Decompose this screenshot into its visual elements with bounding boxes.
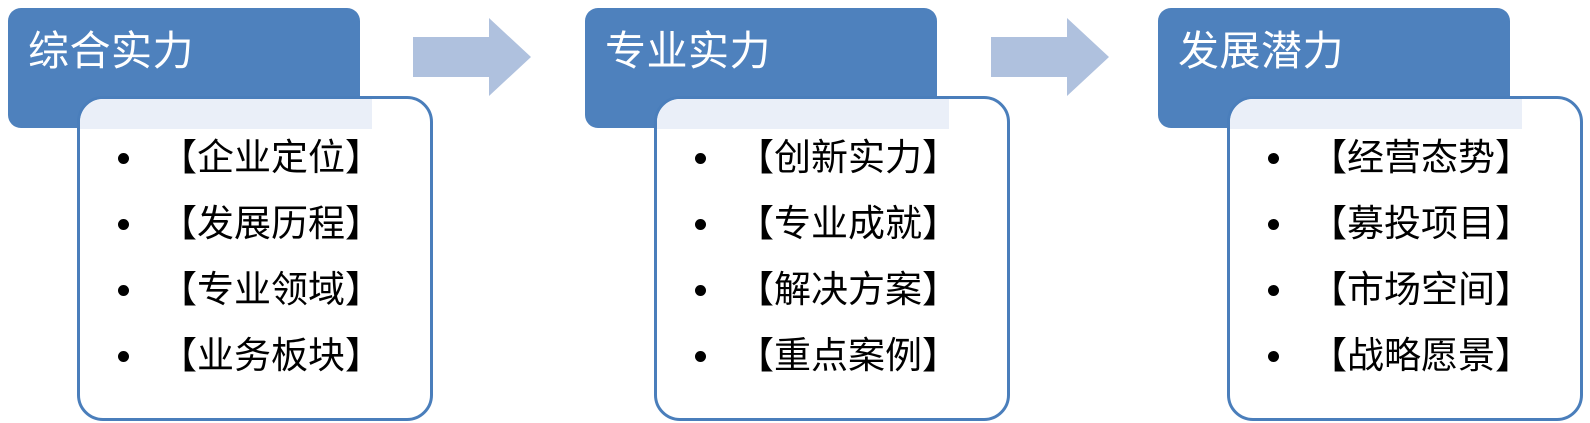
bullet-dot-icon [1268, 153, 1279, 164]
list-item[interactable]: 【重点案例】 [657, 323, 1007, 389]
list-item-label: 【经营态势】 [1310, 137, 1532, 178]
bullet-dot-icon [118, 351, 129, 362]
list-item[interactable]: 【业务板块】 [80, 323, 430, 389]
bullet-dot-icon [118, 219, 129, 230]
bullet-dot-icon [118, 285, 129, 296]
right-arrow-icon-1 [413, 18, 531, 96]
bullet-dot-icon [695, 285, 706, 296]
list-item[interactable]: 【募投项目】 [1230, 191, 1580, 257]
list-item[interactable]: 【市场空间】 [1230, 257, 1580, 323]
list-item-label: 【重点案例】 [737, 335, 959, 376]
bullet-dot-icon [118, 153, 129, 164]
right-arrow-icon-2 [991, 18, 1109, 96]
stage-2-card[interactable]: 【创新实力】 【专业成就】 【解决方案】 【重点案例】 [654, 96, 1010, 421]
stage-2-title: 专业实力 [605, 26, 771, 76]
list-item[interactable]: 【经营态势】 [1230, 125, 1580, 191]
list-item-label: 【专业领域】 [160, 269, 382, 310]
list-item-label: 【创新实力】 [737, 137, 959, 178]
list-item-label: 【专业成就】 [737, 203, 959, 244]
list-item[interactable]: 【战略愿景】 [1230, 323, 1580, 389]
list-item[interactable]: 【发展历程】 [80, 191, 430, 257]
stage-1-title: 综合实力 [28, 26, 194, 76]
list-item[interactable]: 【企业定位】 [80, 125, 430, 191]
bullet-dot-icon [1268, 285, 1279, 296]
list-item[interactable]: 【创新实力】 [657, 125, 1007, 191]
stage-1-item-list: 【企业定位】 【发展历程】 【专业领域】 【业务板块】 [80, 125, 430, 389]
list-item-label: 【市场空间】 [1310, 269, 1532, 310]
list-item-label: 【业务板块】 [160, 335, 382, 376]
list-item[interactable]: 【专业成就】 [657, 191, 1007, 257]
bullet-dot-icon [695, 153, 706, 164]
list-item-label: 【募投项目】 [1310, 203, 1532, 244]
bullet-dot-icon [1268, 219, 1279, 230]
stage-3-item-list: 【经营态势】 【募投项目】 【市场空间】 【战略愿景】 [1230, 125, 1580, 389]
list-item[interactable]: 【专业领域】 [80, 257, 430, 323]
list-item-label: 【解决方案】 [737, 269, 959, 310]
stage-2-item-list: 【创新实力】 【专业成就】 【解决方案】 【重点案例】 [657, 125, 1007, 389]
process-flow-diagram: 综合实力 【企业定位】 【发展历程】 【专业领域】 【业务 [0, 0, 1590, 423]
list-item-label: 【发展历程】 [160, 203, 382, 244]
stage-3-card[interactable]: 【经营态势】 【募投项目】 【市场空间】 【战略愿景】 [1227, 96, 1583, 421]
stage-3-title: 发展潜力 [1178, 26, 1344, 76]
bullet-dot-icon [695, 219, 706, 230]
list-item[interactable]: 【解决方案】 [657, 257, 1007, 323]
bullet-dot-icon [1268, 351, 1279, 362]
list-item-label: 【企业定位】 [160, 137, 382, 178]
bullet-dot-icon [695, 351, 706, 362]
stage-1-card[interactable]: 【企业定位】 【发展历程】 【专业领域】 【业务板块】 [77, 96, 433, 421]
list-item-label: 【战略愿景】 [1310, 335, 1532, 376]
